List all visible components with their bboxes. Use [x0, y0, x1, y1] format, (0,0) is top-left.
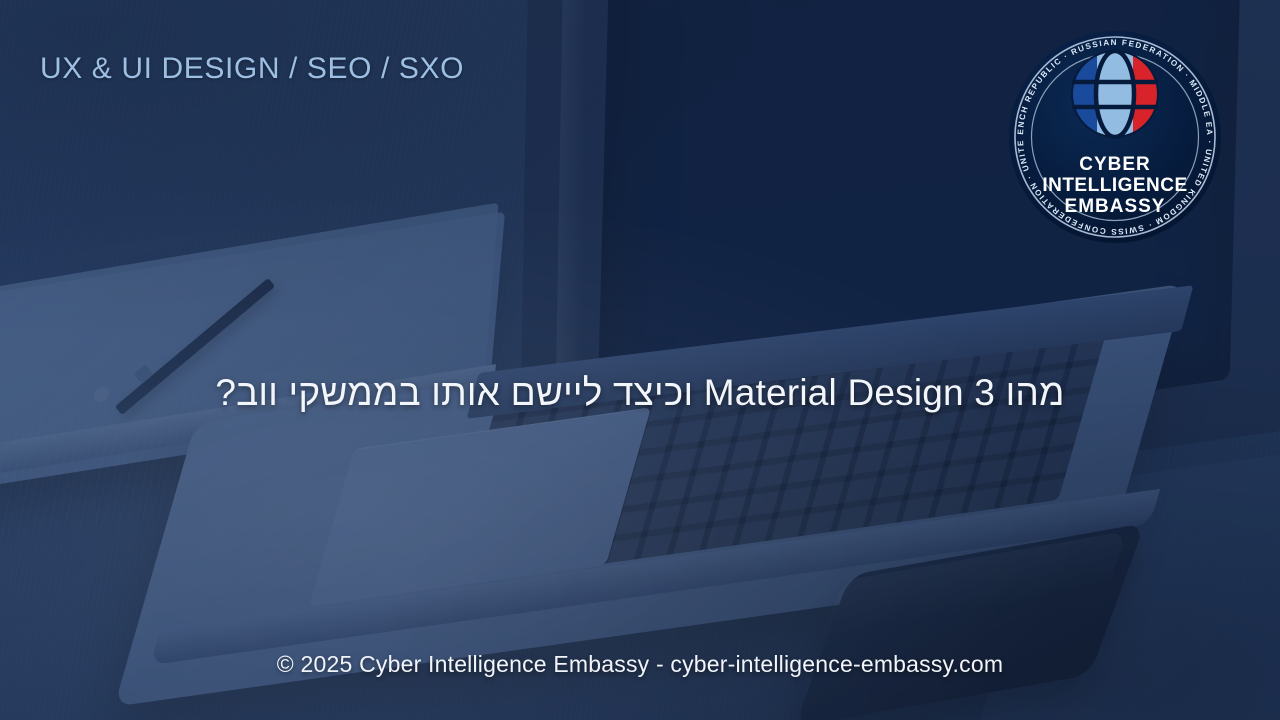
seal-wordmark-line3: EMBASSY	[1065, 196, 1166, 217]
article-banner: UX & UI DESIGN / SEO / SXO מהו Material …	[0, 0, 1280, 720]
page-title: מהו Material Design 3 וכיצד ליישם אותו ב…	[0, 370, 1280, 416]
copyright-footer: © 2025 Cyber Intelligence Embassy - cybe…	[0, 651, 1280, 678]
embassy-seal-logo: EUROPEAN UNION · FRENCH REPUBLIC · RUSSI…	[1000, 22, 1230, 252]
seal-wordmark-line1: CYBER	[1079, 154, 1151, 175]
category-label: UX & UI DESIGN / SEO / SXO	[40, 52, 464, 86]
seal-wordmark-line2: INTELLIGENCE	[1042, 175, 1187, 196]
